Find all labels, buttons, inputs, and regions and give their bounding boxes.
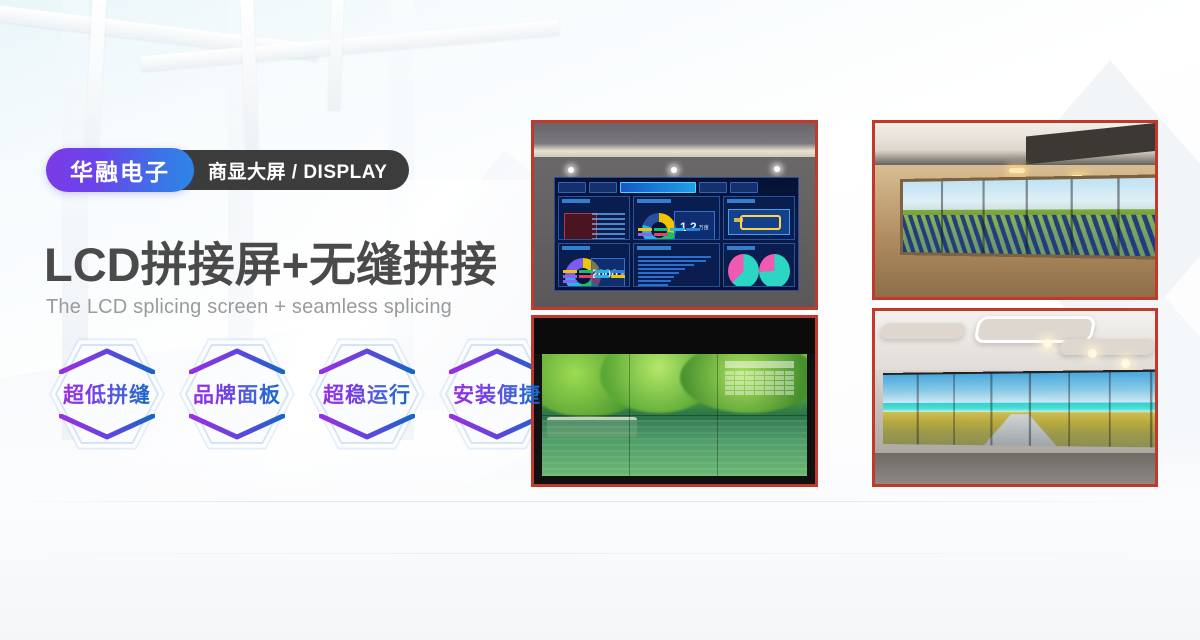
dashboard-panel-info bbox=[558, 196, 630, 240]
dashboard-panel-pie-charts bbox=[723, 243, 795, 287]
panel-title-bar bbox=[637, 246, 671, 250]
feature-label: 超低拼缝 bbox=[63, 379, 151, 409]
feature-item-ultra-narrow-bezel[interactable]: 超低拼缝 bbox=[46, 338, 168, 450]
ceiling-light-icon bbox=[1043, 339, 1052, 348]
ceiling-slab bbox=[879, 323, 967, 339]
panel-title-bar bbox=[562, 246, 590, 250]
product-photo-dashboard-video-wall[interactable]: 1.2万亩 2000家 bbox=[531, 120, 818, 310]
panel-seam bbox=[542, 415, 807, 416]
ceiling-light-icon bbox=[774, 166, 780, 172]
ceiling-slab bbox=[1058, 339, 1156, 355]
photo-floor bbox=[875, 453, 1155, 484]
chevron-up-icon bbox=[59, 348, 155, 374]
calendar-title bbox=[725, 361, 794, 368]
dashboard-tab-active bbox=[620, 182, 696, 193]
brand-name-pill: 华融电子 bbox=[46, 148, 194, 192]
ceiling-light-icon bbox=[1088, 349, 1097, 358]
ceiling-light-icon bbox=[1009, 168, 1025, 173]
dashboard-panel-flow-diagram bbox=[723, 196, 795, 240]
feature-item-stable-operation[interactable]: 超稳运行 bbox=[306, 338, 428, 450]
dashboard-panel-donut-metric: 1.2万亩 bbox=[633, 196, 720, 240]
feature-item-brand-panel[interactable]: 品牌面板 bbox=[176, 338, 298, 450]
page-subtitle: The LCD splicing screen + seamless splic… bbox=[46, 296, 452, 319]
feature-list: 超低拼缝 品牌面板 超稳运行 bbox=[46, 338, 558, 450]
beach-boardwalk-screen bbox=[883, 370, 1158, 448]
chevron-down-icon bbox=[189, 414, 285, 440]
photo-ceiling bbox=[534, 123, 815, 157]
panel-seams bbox=[903, 177, 1158, 255]
feature-label: 超稳运行 bbox=[323, 379, 411, 409]
product-photo-solar-farm-video-wall[interactable] bbox=[872, 120, 1158, 300]
panel-title-bar bbox=[727, 246, 755, 250]
flow-diagram bbox=[728, 209, 790, 235]
pie-chart bbox=[759, 254, 790, 287]
page-title: LCD拼接屏+无缝拼接 bbox=[44, 226, 497, 295]
pie-chart bbox=[728, 254, 759, 287]
feature-label: 品牌面板 bbox=[193, 379, 281, 409]
dashboard-nav-bar bbox=[558, 181, 795, 193]
panel-seams bbox=[883, 372, 1158, 448]
panel-title-bar bbox=[562, 199, 590, 203]
dashboard-panel-grid: 1.2万亩 2000家 bbox=[558, 196, 795, 287]
chevron-up-icon bbox=[189, 348, 285, 374]
dashboard-tab bbox=[589, 182, 617, 193]
feature-label: 安装便捷 bbox=[453, 379, 541, 409]
chevron-down-icon bbox=[319, 414, 415, 440]
dashboard-tab bbox=[699, 182, 727, 193]
dashboard-tab bbox=[730, 182, 758, 193]
pond-water bbox=[542, 420, 807, 476]
brand-badge-row: 华融电子 商显大屏 / DISPLAY bbox=[46, 148, 409, 192]
ceiling-light-icon bbox=[671, 167, 677, 173]
panel-title-bar bbox=[727, 199, 755, 203]
chevron-up-icon bbox=[319, 348, 415, 374]
background-floor-line bbox=[0, 553, 1200, 554]
product-photo-beach-video-wall[interactable] bbox=[872, 308, 1158, 487]
panel-title-bar bbox=[637, 199, 671, 203]
chevron-down-icon bbox=[59, 414, 155, 440]
product-photo-garden-video-wall[interactable] bbox=[531, 315, 818, 487]
chart-legend bbox=[638, 228, 715, 236]
calendar-overlay bbox=[725, 361, 794, 412]
dashboard-panel-bar-chart bbox=[633, 243, 720, 287]
background-floor-line bbox=[0, 501, 1200, 502]
pie-chart-group bbox=[728, 260, 790, 282]
photo-ceiling-bezel bbox=[534, 318, 815, 354]
dashboard-screen: 1.2万亩 2000家 bbox=[554, 177, 799, 291]
chart-legend bbox=[563, 270, 625, 283]
bar-chart bbox=[638, 256, 715, 283]
dashboard-panel-donut-metric-2: 2000家 bbox=[558, 243, 630, 287]
solar-farm-screen bbox=[900, 174, 1158, 259]
ceiling-light-icon bbox=[568, 167, 574, 173]
promo-banner: 华融电子 商显大屏 / DISPLAY LCD拼接屏+无缝拼接 The LCD … bbox=[0, 0, 1200, 640]
calendar-grid bbox=[725, 371, 794, 395]
garden-screen bbox=[542, 354, 807, 476]
dashboard-tab bbox=[558, 182, 586, 193]
